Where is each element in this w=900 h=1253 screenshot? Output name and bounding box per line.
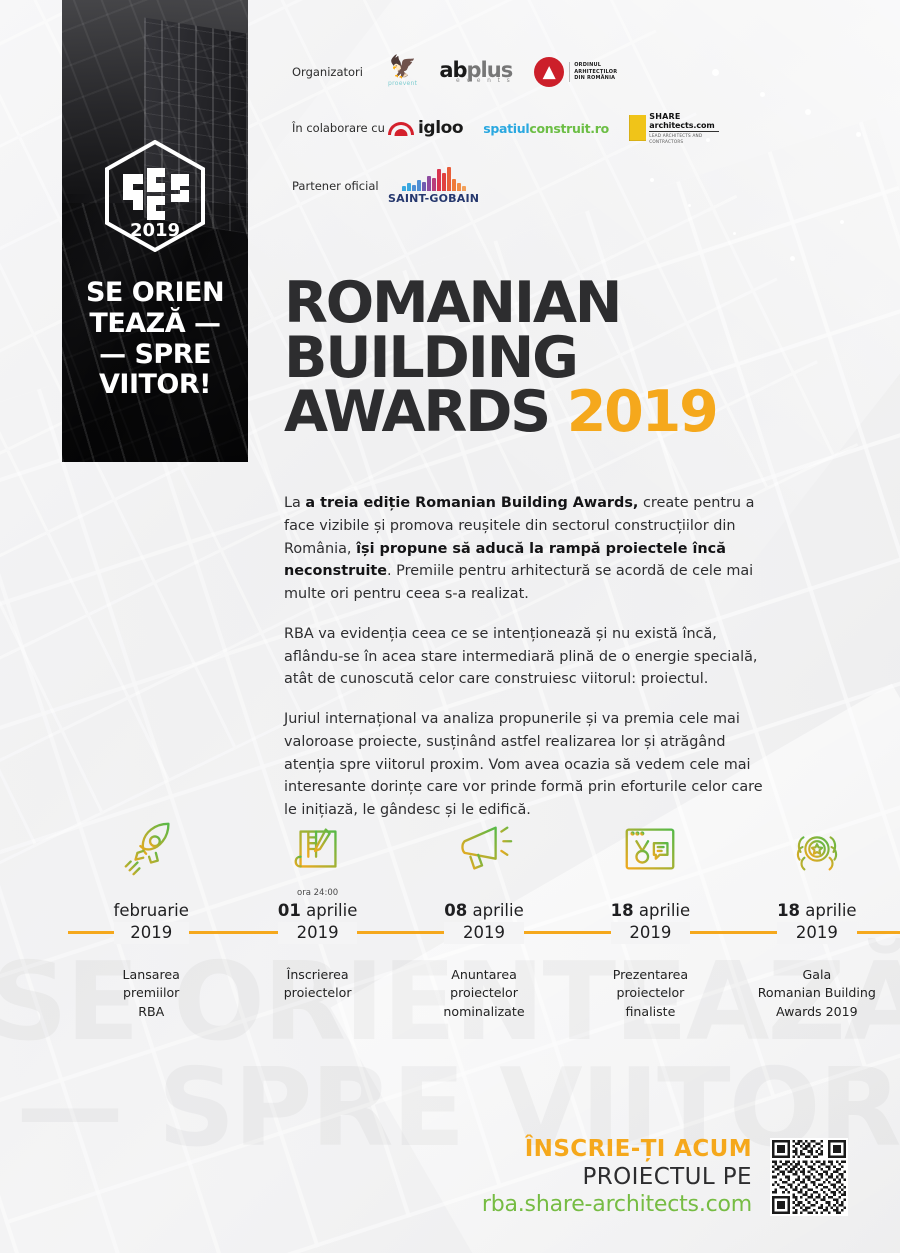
megaphone-icon — [401, 812, 567, 886]
partner-row-label: Partener oficial — [292, 179, 388, 193]
oar-mark-icon: ▲ — [534, 57, 564, 87]
timeline-date: februarie 2019 — [105, 900, 198, 944]
copy-paragraph-2: RBA va evidenția ceea ce se intenționeaz… — [284, 623, 774, 691]
timeline-date-bold: 18 — [611, 901, 634, 920]
timeline-date-main: aprilie — [639, 901, 690, 920]
timeline-note — [401, 886, 567, 900]
hero-slogan-line-2: TEAZĂ — — [62, 309, 248, 340]
partner-row-official: Partener oficial SAINT-GOBAIN — [292, 160, 712, 212]
timeline-note — [68, 886, 234, 900]
title-year: 2019 — [567, 379, 717, 445]
logo-share-architects[interactable]: SHARE architects.com LEAD ARCHITECTS AND… — [629, 112, 719, 144]
bokeh-dot — [840, 220, 844, 224]
qr-code[interactable] — [770, 1138, 848, 1216]
logo-abplus[interactable]: abplus e v e n t s — [439, 60, 512, 84]
timeline-year: 2019 — [777, 922, 857, 944]
partner-row-organizers: Organizatori 🦅 proevent abplus e v e n t… — [292, 46, 712, 98]
bird-icon: 🦅 — [389, 57, 416, 79]
timeline-note — [567, 886, 733, 900]
hero-slogan-line-4: VIITOR! — [62, 370, 248, 401]
title-line-2: BUILDING — [284, 331, 717, 386]
bokeh-dot — [712, 69, 719, 76]
logo-share-text: SHARE architects.com LEAD ARCHITECTS AND… — [649, 112, 719, 144]
timeline-date-bold: 08 — [444, 901, 467, 920]
rba-logo: 2019 — [103, 140, 207, 252]
timeline-year: 2019 — [278, 922, 358, 944]
timeline-item: 18 aprilie 2019 Gala Romanian Building A… — [734, 812, 900, 1021]
logo-sc-part-b: construit.ro — [529, 121, 609, 136]
hero-slogan: SE ORIEN TEAZĂ — — SPRE VIITOR! — [62, 278, 248, 401]
logo-proevent[interactable]: 🦅 proevent — [388, 57, 417, 87]
timeline-description: Prezentarea proiectelor finaliste — [567, 966, 733, 1022]
timeline-date-main: aprilie — [472, 901, 523, 920]
timeline-date-main: aprilie — [805, 901, 856, 920]
logo-igloo-label: igloo — [418, 118, 463, 138]
footer-cta-line-2: PROIECTUL PE — [482, 1163, 752, 1191]
timeline-description: Înscrierea proiectelor — [234, 966, 400, 1003]
footer-cta-line-1: ÎNSCRIE-ȚI ACUM — [482, 1135, 752, 1163]
timeline-note: ora 24:00 — [234, 886, 400, 900]
timeline-date-bold: 18 — [777, 901, 800, 920]
timeline-item: 08 aprilie 2019 Anuntarea proiectelor no… — [401, 812, 567, 1021]
timeline-item: februarie 2019 Lansarea premiilor RBA — [68, 812, 234, 1021]
hero-photo-panel: 2019 SE ORIEN TEAZĂ — — SPRE VIITOR! — [62, 0, 248, 462]
timeline-item: ora 24:00 01 aprilie 2019 Înscrierea pro… — [234, 812, 400, 1021]
share-block-icon — [629, 115, 646, 141]
blueprint-icon — [234, 812, 400, 886]
saint-gobain-skyline-icon — [402, 167, 466, 191]
bokeh-dot — [856, 132, 861, 137]
logo-spatiulconstruit[interactable]: spatiulconstruit.ro — [483, 121, 609, 136]
timeline-year: 2019 — [444, 922, 524, 944]
laurel-award-icon — [734, 812, 900, 886]
partner-row-label: Organizatori — [292, 65, 388, 79]
logo-igloo[interactable]: igloo — [388, 118, 463, 138]
hero-slogan-line-1: SE ORIEN — [62, 278, 248, 309]
hero-slogan-line-3: — SPRE — [62, 340, 248, 371]
timeline-date-main: aprilie — [306, 901, 357, 920]
partner-row-label: În colaborare cu — [292, 121, 388, 135]
timeline-date-bold: 01 — [278, 901, 301, 920]
footer-url[interactable]: rba.share-architects.com — [482, 1192, 752, 1219]
timeline-description: Gala Romanian Building Awards 2019 — [734, 966, 900, 1022]
timeline-date: 01 aprilie 2019 — [269, 900, 367, 944]
timeline-date: 18 aprilie 2019 — [602, 900, 700, 944]
title-line-1: ROMANIAN — [284, 276, 717, 331]
timeline-date: 08 aprilie 2019 — [435, 900, 533, 944]
timeline-year: 2019 — [611, 922, 691, 944]
title-line-3: AWARDS 2019 — [284, 385, 717, 440]
timeline-year: 2019 — [114, 922, 189, 944]
rocket-icon — [68, 812, 234, 886]
svg-text:2019: 2019 — [130, 220, 180, 241]
timeline-description: Anuntarea proiectelor nominalizate — [401, 966, 567, 1022]
timeline-note — [734, 886, 900, 900]
timeline-item: 18 aprilie 2019 Prezentarea proiectelor … — [567, 812, 733, 1021]
logo-ordinul-arhitectilor[interactable]: ▲ ORDINUL ARHITECȚILOR DIN ROMÂNIA — [534, 57, 617, 87]
intro-copy: La a treia ediție Romanian Building Awar… — [284, 492, 774, 839]
footer-cta: ÎNSCRIE-ȚI ACUM PROIECTUL PE rba.share-a… — [0, 1113, 900, 1253]
partners-block: Organizatori 🦅 proevent abplus e v e n t… — [292, 46, 712, 212]
partner-row-collaboration: În colaborare cu igloo spatiulconstruit.… — [292, 102, 712, 154]
logo-saint-gobain-label: SAINT-GOBAIN — [388, 192, 479, 205]
logo-proevent-label: proevent — [388, 80, 417, 87]
logo-saint-gobain[interactable]: SAINT-GOBAIN — [388, 167, 479, 205]
logo-oar-text: ORDINUL ARHITECȚILOR DIN ROMÂNIA — [569, 62, 617, 82]
copy-paragraph-3: Juriul internațional va analiza propuner… — [284, 708, 774, 822]
timeline-date: 18 aprilie 2019 — [768, 900, 866, 944]
bokeh-dot — [760, 92, 765, 97]
bokeh-dot — [805, 109, 811, 115]
bokeh-dot — [733, 232, 736, 235]
logo-sc-part-a: spatiul — [483, 121, 529, 136]
timeline: februarie 2019 Lansarea premiilor RBA — [68, 812, 900, 1021]
bokeh-dot — [790, 256, 795, 261]
page-title: ROMANIAN BUILDING AWARDS 2019 — [284, 276, 717, 440]
presentation-icon — [567, 812, 733, 886]
igloo-arc-icon — [388, 122, 414, 135]
timeline-description: Lansarea premiilor RBA — [68, 966, 234, 1022]
copy-paragraph-1: La a treia ediție Romanian Building Awar… — [284, 492, 774, 606]
timeline-date-main: februarie — [114, 901, 189, 920]
footer-text-block: ÎNSCRIE-ȚI ACUM PROIECTUL PE rba.share-a… — [482, 1135, 752, 1219]
